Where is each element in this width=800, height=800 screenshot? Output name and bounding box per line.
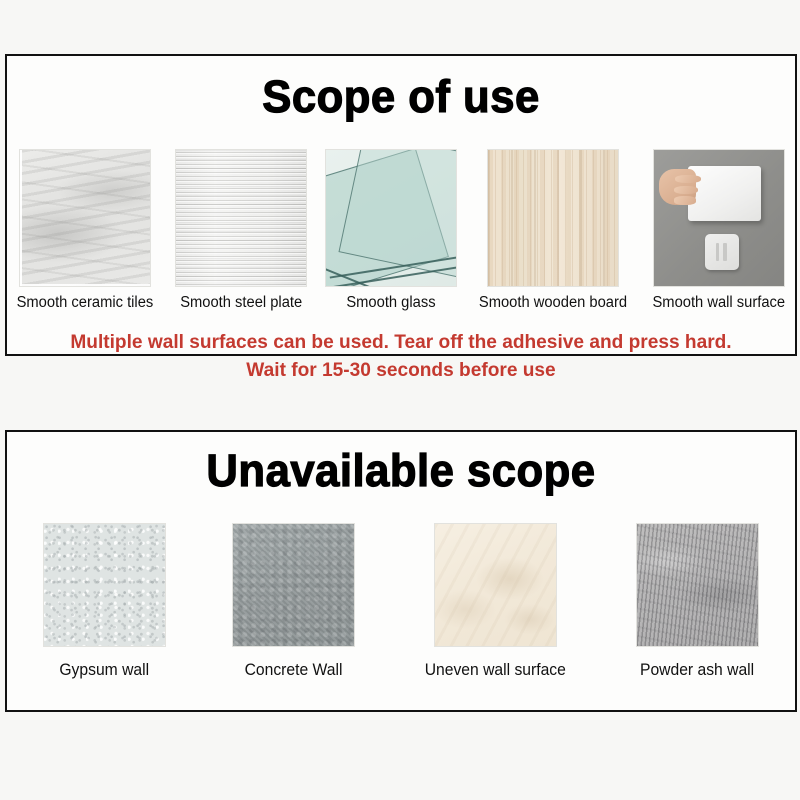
material-caption: Powder ash wall [640, 661, 754, 680]
material-item-uneven-wall: Uneven wall surface [421, 523, 570, 680]
gypsum-wall-swatch [43, 523, 166, 647]
scope-material-row: Smooth ceramic tiles Smooth steel plate … [13, 149, 789, 312]
wall-surface-swatch [653, 149, 785, 287]
finger-icon [675, 175, 701, 184]
page-title-unavailable-scope: Unavailable scope [19, 448, 783, 493]
material-item-concrete-wall: Concrete Wall [232, 523, 355, 680]
finger-icon [674, 186, 699, 195]
material-caption: Smooth glass [347, 294, 436, 312]
adhesive-panel-icon [688, 166, 761, 220]
material-caption: Gypsum wall [60, 661, 150, 680]
material-item-glass: Smooth glass [325, 149, 457, 312]
uneven-wall-swatch [434, 523, 557, 647]
light-switch-icon [705, 234, 739, 269]
glass-swatch [325, 149, 457, 287]
material-item-steel-plate: Smooth steel plate [175, 149, 307, 312]
usage-notice: Multiple wall surfaces can be used. Tear… [7, 328, 795, 385]
material-caption: Smooth wall surface [653, 294, 786, 312]
usage-notice-line-1: Multiple wall surfaces can be used. Tear… [15, 328, 787, 356]
material-item-wall-surface: Smooth wall surface [649, 149, 789, 312]
finger-icon [674, 196, 696, 205]
steel-plate-swatch [175, 149, 307, 287]
material-item-powder-ash-wall: Powder ash wall [636, 523, 759, 680]
material-caption: Concrete Wall [245, 661, 343, 680]
wooden-board-swatch [487, 149, 619, 287]
material-caption: Smooth steel plate [180, 294, 302, 312]
powder-ash-wall-swatch [636, 523, 759, 647]
scope-of-use-panel: Scope of use Smooth ceramic tiles Smooth… [5, 54, 797, 356]
material-caption: Smooth ceramic tiles [17, 294, 154, 312]
unavailable-material-row: Gypsum wall Concrete Wall Uneven wall su… [43, 523, 759, 680]
page-title-scope-of-use: Scope of use [19, 74, 783, 119]
ceramic-tile-swatch [19, 149, 151, 287]
material-item-ceramic-tiles: Smooth ceramic tiles [13, 149, 157, 312]
material-caption: Smooth wooden board [479, 294, 627, 312]
material-item-wooden-board: Smooth wooden board [475, 149, 631, 312]
usage-notice-line-2: Wait for 15-30 seconds before use [15, 356, 787, 384]
concrete-wall-swatch [232, 523, 355, 647]
material-caption: Uneven wall surface [425, 661, 566, 680]
unavailable-scope-panel: Unavailable scope Gypsum wall Concrete W… [5, 430, 797, 712]
material-item-gypsum-wall: Gypsum wall [43, 523, 166, 680]
